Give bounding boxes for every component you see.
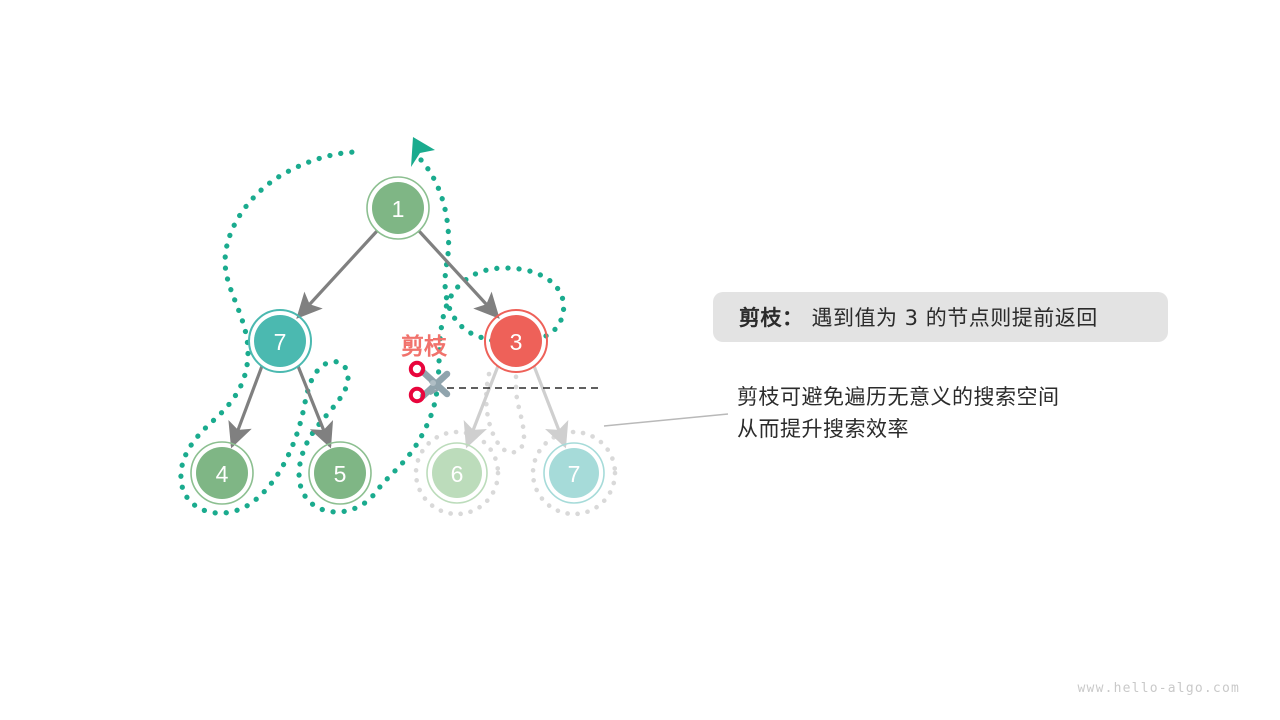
watermark: www.hello-algo.com <box>1078 681 1240 696</box>
tree-diagram-canvas: 1 7 3 4 5 6 7 <box>0 0 1280 720</box>
prune-callout-box: 剪枝： 遇到值为 3 的节点则提前返回 <box>713 292 1168 342</box>
annotation-leader-line <box>604 414 728 426</box>
node-7-left[interactable]: 7 <box>249 310 311 372</box>
callout-body: 遇到值为 3 的节点则提前返回 <box>812 302 1098 332</box>
edge-3-to-7 <box>534 366 565 446</box>
node-4[interactable]: 4 <box>191 442 253 504</box>
edge-1-to-3 <box>419 231 498 317</box>
note-line-2: 从而提升搜索效率 <box>737 413 1157 445</box>
scissors-icon <box>411 363 447 401</box>
tree-nodes: 1 7 3 4 5 6 7 <box>191 177 604 504</box>
node-1[interactable]: 1 <box>367 177 429 239</box>
edge-1-to-7 <box>298 231 377 317</box>
explanation-note: 剪枝可避免遍历无意义的搜索空间 从而提升搜索效率 <box>737 381 1157 445</box>
node-7-right-value: 7 <box>568 461 581 487</box>
node-5-value: 5 <box>334 461 347 487</box>
prune-label: 剪枝 <box>401 333 448 360</box>
edge-7-to-4 <box>232 366 262 446</box>
node-4-value: 4 <box>216 461 229 487</box>
node-7-right[interactable]: 7 <box>544 443 604 503</box>
traversal-arrow-icon <box>411 137 435 167</box>
node-7-left-value: 7 <box>274 329 287 355</box>
note-line-1: 剪枝可避免遍历无意义的搜索空间 <box>737 381 1157 413</box>
node-6-value: 6 <box>451 461 464 487</box>
node-3[interactable]: 3 <box>485 310 547 372</box>
node-6[interactable]: 6 <box>427 443 487 503</box>
node-3-value: 3 <box>510 329 523 355</box>
node-1-value: 1 <box>392 196 405 222</box>
node-5[interactable]: 5 <box>309 442 371 504</box>
callout-caption: 剪枝： <box>739 302 804 332</box>
